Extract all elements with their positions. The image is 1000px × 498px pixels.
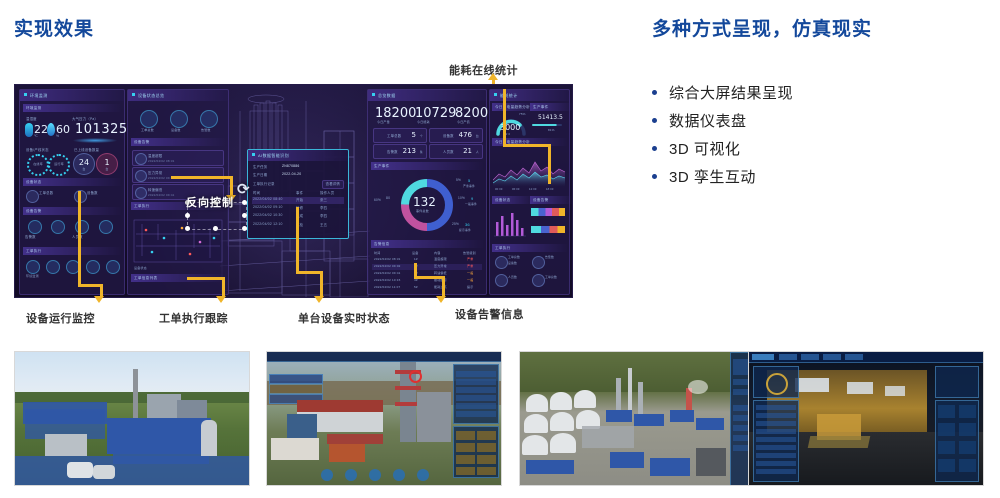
forest bbox=[520, 352, 754, 392]
highlight-marker-icon bbox=[409, 370, 422, 383]
device-icon-3[interactable] bbox=[200, 110, 218, 128]
list-item: 数据仪表盘 bbox=[652, 106, 982, 134]
twin-data-row bbox=[456, 387, 496, 393]
energy-heat-title: 设备告警 bbox=[530, 196, 572, 204]
table-row: 2022/04/02 09:02 2# 压力异常 严重 bbox=[372, 264, 482, 270]
storage-tank bbox=[526, 394, 548, 412]
bullet-dot-icon bbox=[652, 118, 657, 123]
alarm-r3-lvl: 一般 bbox=[467, 271, 473, 275]
list-item: 3D 孪生互动 bbox=[652, 162, 982, 190]
alarm-r1-msg: 温度超限 bbox=[434, 257, 447, 261]
energy-total-pct: 81% bbox=[548, 128, 555, 132]
energy-bar-chart bbox=[493, 208, 527, 240]
thumbnail-refinery[interactable] bbox=[519, 351, 755, 486]
donut-seg-3-pct: 25% bbox=[452, 222, 459, 226]
device-gauge-3-label: 人员数 bbox=[508, 275, 517, 279]
table-row: 2022/04/02 08:31 1# 温度超限 严重 bbox=[372, 257, 482, 263]
alarm-icon-2 bbox=[135, 170, 147, 182]
kpi-small-2-value: 476 bbox=[459, 131, 472, 139]
popup-col-1: 时间 bbox=[253, 190, 260, 195]
panel-env-monitor: 环境监测 环境监测 温湿度 大气压力（Pa） 22 ℃ 60 % 101325 … bbox=[19, 89, 125, 295]
energy-tick-1: 00:00 bbox=[495, 188, 503, 191]
popup-row-1-event: 开始 bbox=[296, 197, 303, 202]
twin-nav-5[interactable] bbox=[417, 469, 429, 481]
kpi-small-3-value: 213 bbox=[403, 147, 416, 155]
popup-row2-1-user: 王五 bbox=[320, 222, 327, 227]
selection-handle-ne[interactable] bbox=[242, 200, 247, 205]
grid-label-3: 环境监测 bbox=[26, 274, 39, 278]
twin-nav-4[interactable] bbox=[393, 469, 405, 481]
pipe-rack bbox=[582, 426, 634, 448]
energy-tick-2: 06:00 bbox=[512, 188, 520, 191]
twin-nav-3[interactable] bbox=[369, 469, 381, 481]
thumbnail-plant-aerial[interactable] bbox=[14, 351, 250, 486]
count-a-unit: 台 bbox=[74, 167, 94, 171]
side-tower bbox=[417, 392, 451, 442]
grid-icon-9[interactable] bbox=[106, 260, 120, 274]
alarm-text-1: 温度超限 bbox=[148, 153, 162, 158]
panel-subtitle-events: 生产事件 bbox=[371, 162, 483, 170]
callout-line-energy-in bbox=[503, 89, 506, 147]
alarm-row-2[interactable]: 压力异常 2022/04/02 09:02 bbox=[132, 167, 224, 183]
platform-left-panel-1[interactable] bbox=[753, 366, 799, 398]
list-item: 综合大屏结果呈现 bbox=[652, 78, 982, 106]
device-icon-2[interactable] bbox=[170, 110, 188, 128]
popup-row-1-time: 2022/04/02 08:40 bbox=[253, 197, 283, 201]
camera-tile[interactable] bbox=[959, 423, 976, 436]
twin-right-panel[interactable] bbox=[453, 364, 499, 424]
donut-seg-3-value: 36 bbox=[465, 222, 470, 227]
platform-right-panel-1[interactable] bbox=[935, 366, 979, 398]
alarm-r5-dev: 5# bbox=[414, 285, 418, 289]
kpi-small-2-label: 设备数 bbox=[443, 133, 454, 138]
platform-left-panel-2[interactable] bbox=[753, 400, 799, 482]
status-icon-a bbox=[26, 190, 39, 203]
callout-label-4: 设备告警信息 bbox=[455, 306, 524, 322]
device-icon-2-label: 设备数 bbox=[171, 128, 181, 132]
camera-tile[interactable] bbox=[959, 441, 976, 454]
legend-row: 设备状态 bbox=[134, 266, 147, 270]
humidity-drop-icon bbox=[47, 123, 55, 136]
alarm-col-2: 设备 bbox=[412, 251, 418, 255]
silo bbox=[201, 420, 217, 456]
energy-gauge-pct: 75% bbox=[519, 112, 526, 116]
count-circle-a: 24 台 bbox=[73, 153, 95, 175]
alarm-r1-dev: 1# bbox=[414, 257, 418, 261]
blue-unit-1 bbox=[606, 410, 632, 422]
device-gauge-3 bbox=[495, 274, 508, 287]
donut-seg-2-label: 一般事件 bbox=[465, 202, 477, 206]
grid-icon-5[interactable] bbox=[26, 260, 40, 274]
platform-row bbox=[756, 461, 796, 466]
donut-seg-4-pct: 60% bbox=[374, 198, 381, 202]
camera-tile[interactable] bbox=[938, 441, 955, 454]
side-building bbox=[177, 400, 207, 420]
red-roof-2 bbox=[327, 434, 383, 444]
twin-data-row bbox=[456, 403, 496, 409]
panel-title: 环境监测 bbox=[20, 90, 124, 101]
tower-band-2 bbox=[395, 386, 421, 390]
thermometer-icon bbox=[25, 123, 33, 137]
popup-title: AI数据智能识别 bbox=[248, 150, 348, 161]
camera-tile[interactable] bbox=[938, 423, 955, 436]
energy-total-value: 51413.5 bbox=[538, 114, 563, 121]
donut-center-value: 132 bbox=[413, 195, 436, 209]
popup-row-3-user: 李四 bbox=[320, 213, 327, 218]
energy-bar-title: 设备状态 bbox=[492, 196, 534, 204]
callout-line-alarm-h bbox=[414, 276, 445, 279]
callout-line-alarm-v2 bbox=[442, 276, 445, 297]
flare-stack bbox=[628, 368, 632, 414]
donut-seg-2-value: 9 bbox=[471, 196, 473, 201]
alarm-icon-3 bbox=[135, 187, 147, 199]
list-item-label: 3D 孪生互动 bbox=[669, 166, 756, 187]
blue-building bbox=[287, 414, 317, 440]
tank-group-2 bbox=[93, 465, 115, 479]
list-item-label: 综合大屏结果呈现 bbox=[669, 82, 793, 103]
env-count-label: 已上线设备数量 bbox=[74, 147, 99, 152]
alarm-row-1[interactable]: 温度超限 2022/04/02 08:31 bbox=[132, 150, 224, 166]
platform-logo bbox=[752, 354, 774, 360]
callout-line-dev-h bbox=[296, 271, 323, 274]
popup-col-3: 操作人员 bbox=[320, 190, 334, 195]
device-gauge-1-label: 工单总数 bbox=[508, 255, 520, 259]
callout-label-energy: 能耗在线统计 bbox=[449, 62, 518, 78]
twin-stat bbox=[456, 431, 475, 440]
kpi-small-4-unit: 人 bbox=[476, 150, 479, 154]
grid-icon-1[interactable] bbox=[28, 220, 42, 234]
window-3 bbox=[885, 386, 905, 396]
alarm-r2-lvl: 严重 bbox=[467, 264, 473, 268]
callout-label-reverse-control: 反向控制 bbox=[186, 194, 234, 210]
bullet-dot-icon bbox=[652, 90, 657, 95]
platform-right-panel-2[interactable] bbox=[935, 400, 979, 482]
twin-topbar[interactable] bbox=[267, 352, 501, 362]
env-humid-unit: % bbox=[56, 134, 59, 138]
donut-seg-1-label: 严重事件 bbox=[463, 184, 475, 188]
alarm-col-1: 时间 bbox=[374, 251, 380, 255]
popup-field-2: 生产日期 bbox=[253, 172, 267, 177]
status-label-a: 工单总数 bbox=[39, 190, 53, 195]
alarm-col-3: 内容 bbox=[434, 251, 440, 255]
donut-seg-2-pct: 10% bbox=[458, 196, 465, 200]
energy-progress-bar bbox=[532, 124, 562, 126]
feature-list: 综合大屏结果呈现 数据仪表盘 3D 可视化 3D 孪生互动 bbox=[652, 78, 982, 190]
donut-seg-3-label: 提示事件 bbox=[459, 228, 471, 232]
table-row: 2022/04/02 08:40 开始 张三 bbox=[252, 197, 344, 204]
platform-row bbox=[756, 405, 796, 410]
twin-data-row bbox=[456, 395, 496, 401]
blue-unit-7 bbox=[650, 458, 690, 476]
grid-icon-4[interactable] bbox=[99, 220, 113, 234]
callout-line-reverse-h bbox=[171, 176, 233, 179]
energy-heat-bar-1 bbox=[531, 208, 565, 216]
alarm-r1-time: 2022/04/02 08:31 bbox=[374, 257, 401, 261]
energy-tick-4: 18:00 bbox=[546, 188, 554, 191]
device-gauge-1-sub: 设备数 bbox=[508, 261, 517, 265]
grey-shed bbox=[45, 434, 87, 456]
panel-subtitle-2: 设备状态 bbox=[23, 178, 121, 186]
storage-tank bbox=[574, 390, 596, 408]
device-icon-3-label: 告警数 bbox=[201, 128, 211, 132]
popup-field-1-value: ZN870886 bbox=[282, 164, 299, 168]
popup-row-1-user: 张三 bbox=[320, 197, 327, 202]
platform-row bbox=[756, 421, 796, 426]
tank-group bbox=[67, 462, 93, 478]
alarm-r1-lvl: 严重 bbox=[467, 257, 473, 261]
alarm-icon-1 bbox=[135, 153, 147, 165]
twin-stat bbox=[456, 455, 475, 464]
twin-data-row bbox=[456, 371, 496, 377]
twin-stat bbox=[456, 467, 475, 475]
ramp bbox=[808, 436, 871, 448]
energy-sub-gauge: 今日用电量趋势分析 bbox=[492, 103, 534, 111]
device-gauge-1 bbox=[495, 256, 508, 269]
kpi-small-1-unit: 个 bbox=[420, 134, 423, 138]
donut-seg-4-value: 80 bbox=[386, 196, 390, 200]
page-title-right: 多种方式呈现，仿真现实 bbox=[652, 14, 872, 41]
panel-subtitle-alarm: 设备告警 bbox=[131, 138, 225, 146]
kpi-small-1[interactable]: 工单总数 5 个 bbox=[373, 128, 427, 143]
camera-tile[interactable] bbox=[959, 459, 976, 472]
energy-sub-total: 生产事件 bbox=[530, 103, 572, 111]
twin-data-row bbox=[456, 411, 496, 417]
platform-row bbox=[756, 453, 796, 458]
popup-row-3-time: 2022/04/02 10:30 bbox=[253, 213, 283, 217]
list-item-label: 数据仪表盘 bbox=[669, 110, 747, 131]
callout-arrow-down-2-icon bbox=[216, 296, 226, 303]
camera-tile[interactable] bbox=[938, 459, 955, 472]
panel-subtitle-alarmtable: 告警信息 bbox=[371, 240, 483, 248]
panel-device-overview: 设备状态总览 工单总数 设备数 告警数 设备告警 温度超限 2022/04/02… bbox=[127, 89, 229, 295]
kpi-small-4-value: 21 bbox=[463, 147, 472, 155]
count-circle-b: 1 台 bbox=[96, 153, 118, 175]
callout-line-dev-v bbox=[296, 207, 299, 273]
alarm-r5-time: 2022/04/02 11:07 bbox=[374, 285, 400, 289]
thumbnail-digital-twin[interactable] bbox=[266, 351, 502, 486]
callout-label-1: 设备运行监控 bbox=[26, 310, 95, 326]
kpi-label-1: 今日产量 bbox=[377, 120, 390, 124]
grid-icon-2[interactable] bbox=[51, 220, 65, 234]
donut-seg-1-pct: 5% bbox=[456, 178, 461, 182]
popup-row-2-time: 2022/04/02 09:10 bbox=[253, 205, 283, 209]
dashboard-screenshot: 环境监测 环境监测 温湿度 大气压力（Pa） 22 ℃ 60 % 101325 … bbox=[14, 84, 573, 298]
popup-field-2-value: 2022-04-20 bbox=[282, 172, 301, 176]
alarm-text-3: 转速偏低 bbox=[148, 187, 162, 192]
selection-handle-s[interactable] bbox=[213, 226, 218, 231]
kpi-small-1-value: 5 bbox=[412, 131, 416, 139]
callout-line-energy-v2 bbox=[548, 144, 551, 184]
energy-device-title: 工单执行 bbox=[492, 244, 567, 252]
device-icon-1-label: 工单总数 bbox=[141, 128, 154, 132]
device-gauge-4 bbox=[532, 274, 545, 287]
ring-gauge-running: 运行率 bbox=[48, 154, 70, 176]
alarm-time-3: 2022/04/02 09:41 bbox=[148, 193, 175, 197]
energy-area-chart bbox=[493, 150, 565, 188]
platform-menu-3[interactable] bbox=[823, 354, 841, 360]
grid-icon-8[interactable] bbox=[86, 260, 100, 274]
energy-tick-3: 12:00 bbox=[529, 188, 537, 191]
kpi-small-1-label: 工单总数 bbox=[387, 133, 401, 138]
platform-menu-4[interactable] bbox=[845, 354, 863, 360]
storage-tank bbox=[550, 392, 572, 410]
callout-line-devmon-v bbox=[78, 191, 81, 287]
selection-handle-e[interactable] bbox=[242, 213, 247, 218]
platform-row bbox=[756, 445, 796, 450]
ring-gauge-online: 在线率 bbox=[27, 154, 49, 176]
twin-stat bbox=[477, 431, 496, 440]
twin-nav-2[interactable] bbox=[345, 469, 357, 481]
dark-unit bbox=[696, 448, 726, 476]
kpi-value-2: 10729 bbox=[415, 106, 456, 121]
popup-row-2-user: 李四 bbox=[320, 205, 327, 210]
twin-nav-1[interactable] bbox=[321, 469, 333, 481]
kpi-small-3-unit: 条 bbox=[420, 150, 423, 154]
storage-tank bbox=[550, 433, 576, 453]
twin-left-tab-2[interactable] bbox=[269, 384, 323, 394]
popup-row2-1-time: 2022/04/02 12:10 bbox=[253, 222, 283, 226]
platform-menu-1[interactable] bbox=[779, 354, 797, 360]
popup-detail-button[interactable]: 查看详情 bbox=[322, 180, 344, 189]
platform-row bbox=[756, 429, 796, 434]
count-b-unit: 台 bbox=[97, 167, 117, 171]
alarm-r4-time: 2022/04/02 10:15 bbox=[374, 278, 401, 282]
ring-gauge-online-label: 在线率 bbox=[29, 162, 47, 166]
bullet-dot-icon bbox=[652, 146, 657, 151]
list-item: 3D 可视化 bbox=[652, 134, 982, 162]
camera-tile[interactable] bbox=[959, 405, 976, 418]
kpi-small-2[interactable]: 设备数 476 台 bbox=[429, 128, 483, 143]
popup-field-3: 工单执行记录 bbox=[253, 181, 275, 186]
panel-energy: 能耗统计 今日用电量趋势分析 生产事件 75% 3000 kW·h 51413.… bbox=[489, 89, 570, 295]
platform-menu-2[interactable] bbox=[801, 354, 819, 360]
device-gauge-4-label: 工单总数 bbox=[545, 275, 557, 279]
env-gauge-label: 设备/产线状态 bbox=[26, 147, 49, 152]
panel-title: 设备状态总览 bbox=[128, 90, 228, 101]
alarm-time-1: 2022/04/02 08:31 bbox=[148, 159, 175, 163]
kpi-value-3: 8200 bbox=[455, 106, 488, 121]
twin-stat bbox=[477, 443, 496, 452]
twin-right-panel-2[interactable] bbox=[453, 426, 499, 478]
selection-handle-sw[interactable] bbox=[185, 226, 190, 231]
callout-line-wo-v bbox=[222, 277, 225, 297]
env-temp-label: 温湿度 bbox=[26, 116, 37, 121]
blue-unit-3 bbox=[670, 410, 694, 422]
alarm-r3-msg: 转速偏低 bbox=[434, 271, 447, 275]
treeline bbox=[15, 392, 249, 403]
storage-tank bbox=[524, 414, 548, 433]
selection-handle-se[interactable] bbox=[242, 226, 247, 231]
blue-unit-2 bbox=[634, 414, 664, 426]
panel-kpi-summary: 总览数据 18200 今日产量 10729 今日能耗 8200 今日产值 工单总… bbox=[367, 89, 487, 295]
panel-subtitle: 环境监测 bbox=[23, 104, 121, 112]
callout-arrow-up-icon bbox=[488, 73, 498, 80]
callout-line-dev-v2 bbox=[320, 271, 323, 297]
kpi-label-2: 今日能耗 bbox=[417, 120, 430, 124]
count-b-value: 1 bbox=[97, 158, 117, 167]
donut-center-label: 事件总数 bbox=[416, 209, 429, 213]
grid-label-1: 告警数 bbox=[25, 234, 36, 239]
env-pressure-label: 大气压力（Pa） bbox=[72, 116, 98, 121]
count-a-value: 24 bbox=[74, 158, 94, 167]
panel-subtitle-3: 设备告警 bbox=[23, 207, 121, 215]
env-pressure-value: 101325 bbox=[75, 122, 128, 137]
popup-field-1: 生产任务 bbox=[253, 164, 267, 169]
callout-label-2: 工单执行跟踪 bbox=[159, 310, 228, 326]
window-1 bbox=[795, 378, 829, 392]
kpi-small-3-label: 告警数 bbox=[387, 149, 398, 154]
window-2 bbox=[847, 382, 873, 394]
device-icon-1[interactable] bbox=[140, 110, 158, 128]
selection-handle-w[interactable] bbox=[185, 213, 190, 218]
twin-stat bbox=[477, 455, 496, 464]
alarm-text-2: 压力异常 bbox=[148, 170, 162, 175]
gauge-ring-icon bbox=[766, 373, 788, 395]
kpi-value-1: 18200 bbox=[375, 106, 416, 121]
popup-col-2: 事件 bbox=[296, 190, 303, 195]
list-item-label: 3D 可视化 bbox=[669, 138, 740, 159]
kpi-small-4[interactable]: 人员数 21 人 bbox=[429, 144, 483, 159]
alarm-r5-lvl: 提示 bbox=[467, 285, 473, 289]
kpi-small-2-unit: 台 bbox=[476, 134, 479, 138]
alarm-r2-time: 2022/04/02 09:02 bbox=[374, 264, 401, 268]
storage-tank bbox=[522, 435, 548, 455]
camera-tile[interactable] bbox=[938, 405, 955, 418]
kpi-label-3: 今日产值 bbox=[457, 120, 470, 124]
white-building bbox=[271, 438, 319, 460]
slide-page: 实现效果 多种方式呈现，仿真现实 综合大屏结果呈现 数据仪表盘 3D 可视化 3… bbox=[0, 0, 1000, 498]
kpi-small-4-label: 人员数 bbox=[443, 149, 454, 154]
table-row: 2022/04/02 11:07 5# 能耗过高 提示 bbox=[372, 285, 482, 291]
platform-row bbox=[756, 413, 796, 418]
energy-heat-bar-2 bbox=[531, 226, 565, 233]
alarm-col-4: 告警级别 bbox=[463, 251, 476, 255]
device-gauge-2 bbox=[532, 256, 545, 269]
device-gauge-2-label: 告警数 bbox=[545, 255, 554, 259]
bullet-dot-icon bbox=[652, 174, 657, 179]
grid-icon-6[interactable] bbox=[46, 260, 60, 274]
twin-stat bbox=[456, 443, 475, 452]
pressure-glow bbox=[73, 138, 117, 143]
donut-seg-1-value: 5 bbox=[468, 178, 470, 183]
orange-building bbox=[329, 444, 365, 462]
callout-line-energy-h bbox=[503, 144, 551, 147]
twin-data-row bbox=[456, 379, 496, 385]
callout-arrow-down-4-icon bbox=[436, 296, 446, 303]
blue-unit-6 bbox=[526, 460, 574, 474]
page-title-left: 实现效果 bbox=[14, 14, 94, 41]
alarm-r4-lvl: 一般 bbox=[467, 278, 473, 282]
kpi-small-3[interactable]: 告警数 213 条 bbox=[373, 144, 427, 159]
rotate-handle-icon[interactable]: ⟳ bbox=[237, 180, 250, 198]
blue-unit-4 bbox=[696, 418, 724, 430]
ring-gauge-running-label: 运行率 bbox=[50, 162, 68, 166]
env-temp-unit: ℃ bbox=[34, 134, 38, 138]
callout-line-wo-h bbox=[187, 277, 225, 280]
twin-stat bbox=[477, 467, 496, 475]
platform-row bbox=[756, 437, 796, 442]
callout-label-3: 单台设备实时状态 bbox=[298, 310, 390, 326]
twin-left-tab-1[interactable] bbox=[269, 374, 323, 384]
panel-title: 能耗统计 bbox=[490, 90, 569, 101]
callout-arrow-down-1-icon bbox=[94, 296, 104, 303]
blue-unit-5 bbox=[610, 452, 644, 468]
thumbnail-strip bbox=[14, 351, 986, 484]
alarm-r2-msg: 压力异常 bbox=[434, 264, 447, 268]
thumbnail-warehouse-platform[interactable] bbox=[748, 351, 984, 486]
panel-subtitle-4: 工单执行 bbox=[23, 247, 121, 255]
status-label-b: 设备数 bbox=[87, 190, 98, 195]
